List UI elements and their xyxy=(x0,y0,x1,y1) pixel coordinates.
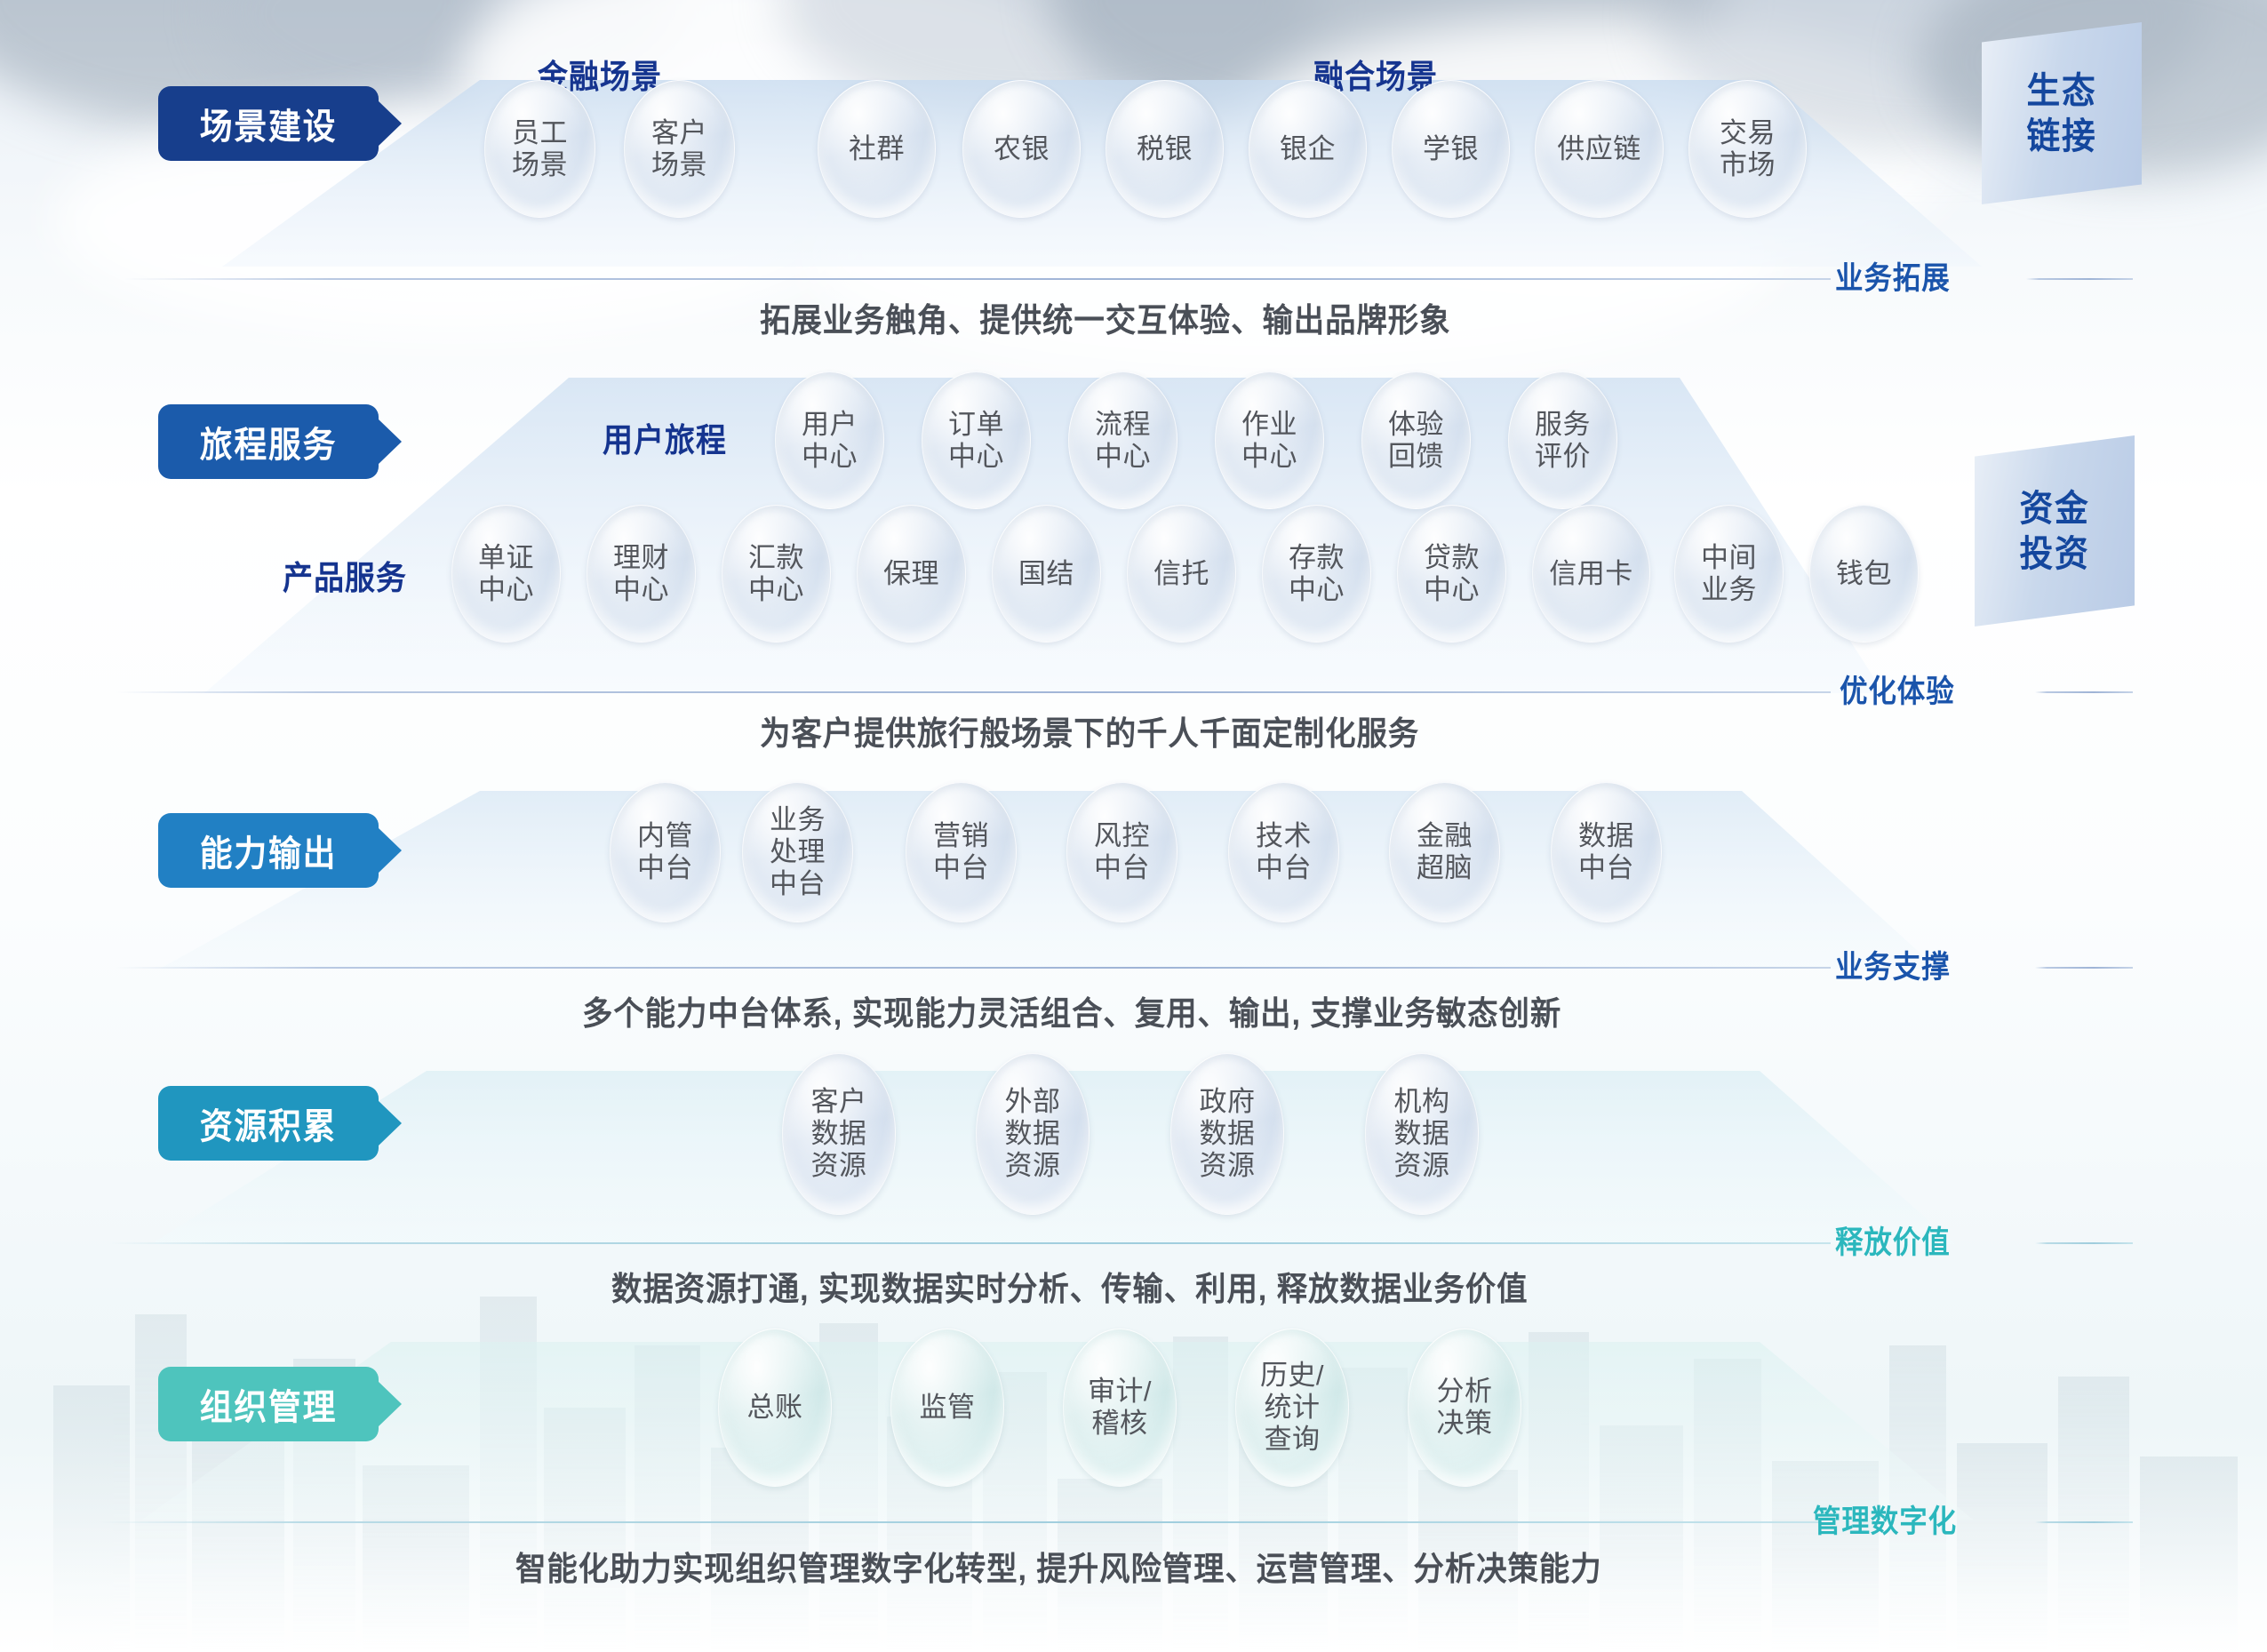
node-product-6[interactable]: 存款 中心 xyxy=(1262,505,1371,642)
node-scene-7[interactable]: 供应链 xyxy=(1535,80,1664,218)
node-product-10[interactable]: 钱包 xyxy=(1809,505,1919,642)
node-capability-0[interactable]: 内管 中台 xyxy=(610,782,721,922)
badge-capability[interactable]: 能力输出 xyxy=(158,813,379,888)
divider-resource xyxy=(107,1242,1831,1244)
phase-label-resource: 释放价值 xyxy=(1835,1217,1951,1263)
divider-scene xyxy=(124,278,1831,280)
node-resource-1[interactable]: 外部 数据 资源 xyxy=(976,1053,1090,1215)
node-journey-1[interactable]: 订单 中心 xyxy=(922,371,1031,509)
node-capability-1[interactable]: 业务 处理 中台 xyxy=(742,782,853,922)
badge-organization-label: 组织管理 xyxy=(200,1378,338,1430)
node-capability-6[interactable]: 数据 中台 xyxy=(1551,782,1662,922)
divider-journey-right xyxy=(2035,691,2133,693)
node-resource-2[interactable]: 政府 数据 资源 xyxy=(1170,1053,1284,1215)
phase-label-scene: 业务拓展 xyxy=(1835,253,1951,299)
node-product-0[interactable]: 单证 中心 xyxy=(451,505,561,642)
tagline-capability: 多个能力中台体系, 实现能力灵活组合、复用、输出, 支撑业务敏态创新 xyxy=(582,986,1561,1034)
badge-journey[interactable]: 旅程服务 xyxy=(158,404,379,479)
node-organization-3[interactable]: 历史/ 统计 查询 xyxy=(1235,1329,1349,1487)
node-scene-8[interactable]: 交易 市场 xyxy=(1688,80,1807,218)
divider-capability-right xyxy=(2035,967,2133,969)
badge-capability-label: 能力输出 xyxy=(200,825,338,876)
divider-organization-right xyxy=(2035,1521,2133,1523)
divider-organization xyxy=(98,1521,1822,1523)
node-capability-3[interactable]: 风控 中台 xyxy=(1066,782,1177,922)
phase-label-capability: 业务支撑 xyxy=(1835,942,1951,987)
phase-label-organization: 管理数字化 xyxy=(1813,1496,1957,1542)
badge-resource[interactable]: 资源积累 xyxy=(158,1086,379,1161)
tagline-organization: 智能化助力实现组织管理数字化转型, 提升风险管理、运营管理、分析决策能力 xyxy=(515,1542,1602,1590)
node-resource-0[interactable]: 客户 数据 资源 xyxy=(782,1053,896,1215)
divider-scene-right xyxy=(2026,278,2133,280)
node-product-2[interactable]: 汇款 中心 xyxy=(722,505,831,642)
ribbon-ecosystem-link: 生态 链接 xyxy=(1982,22,2142,204)
divider-capability xyxy=(116,967,1831,969)
node-organization-4[interactable]: 分析 决策 xyxy=(1408,1329,1521,1487)
tagline-journey: 为客户提供旅行般场景下的千人千面定制化服务 xyxy=(760,706,1419,754)
node-scene-6[interactable]: 学银 xyxy=(1392,80,1510,218)
ribbon-capital-investment: 资金 投资 xyxy=(1975,435,2135,626)
node-journey-0[interactable]: 用户 中心 xyxy=(775,371,884,509)
node-journey-2[interactable]: 流程 中心 xyxy=(1068,371,1177,509)
badge-journey-label: 旅程服务 xyxy=(200,416,338,467)
node-journey-5[interactable]: 服务 评价 xyxy=(1508,371,1617,509)
node-capability-5[interactable]: 金融 超脑 xyxy=(1389,782,1500,922)
node-resource-3[interactable]: 机构 数据 资源 xyxy=(1365,1053,1479,1215)
node-scene-2[interactable]: 社群 xyxy=(818,80,936,218)
node-organization-0[interactable]: 总账 xyxy=(718,1329,832,1487)
phase-label-journey: 优化体验 xyxy=(1840,666,1955,712)
node-scene-5[interactable]: 银企 xyxy=(1249,80,1367,218)
badge-organization[interactable]: 组织管理 xyxy=(158,1367,379,1441)
group-label-user-journey: 用户旅程 xyxy=(603,413,727,461)
node-product-3[interactable]: 保理 xyxy=(857,505,966,642)
divider-journey xyxy=(116,691,1831,693)
node-scene-1[interactable]: 客户 场景 xyxy=(624,80,735,218)
group-label-product-service: 产品服务 xyxy=(283,551,407,599)
node-product-1[interactable]: 理财 中心 xyxy=(587,505,696,642)
node-scene-3[interactable]: 农银 xyxy=(962,80,1081,218)
tagline-scene: 拓展业务触角、提供统一交互体验、输出品牌形象 xyxy=(760,293,1450,341)
badge-scene[interactable]: 场景建设 xyxy=(158,86,379,161)
badge-resource-label: 资源积累 xyxy=(200,1097,338,1149)
node-product-9[interactable]: 中间 业务 xyxy=(1674,505,1784,642)
node-capability-4[interactable]: 技术 中台 xyxy=(1228,782,1339,922)
node-product-4[interactable]: 国结 xyxy=(992,505,1101,642)
node-scene-0[interactable]: 员工 场景 xyxy=(484,80,595,218)
node-product-5[interactable]: 信托 xyxy=(1127,505,1236,642)
node-product-8[interactable]: 信用卡 xyxy=(1532,505,1650,642)
tagline-resource: 数据资源打通, 实现数据实时分析、传输、利用, 释放数据业务价值 xyxy=(611,1262,1528,1310)
node-capability-2[interactable]: 营销 中台 xyxy=(906,782,1017,922)
node-journey-3[interactable]: 作业 中心 xyxy=(1215,371,1324,509)
divider-resource-right xyxy=(2035,1242,2133,1244)
node-organization-1[interactable]: 监管 xyxy=(890,1329,1004,1487)
node-scene-4[interactable]: 税银 xyxy=(1106,80,1224,218)
node-journey-4[interactable]: 体验 回馈 xyxy=(1361,371,1471,509)
architecture-diagram: 场景建设 金融场景 融合场景 员工 场景 客户 场景 社群 农银 税银 银企 学… xyxy=(0,0,2267,1652)
node-organization-2[interactable]: 审计/ 稽核 xyxy=(1063,1329,1177,1487)
badge-scene-label: 场景建设 xyxy=(200,98,338,149)
node-product-7[interactable]: 贷款 中心 xyxy=(1397,505,1506,642)
